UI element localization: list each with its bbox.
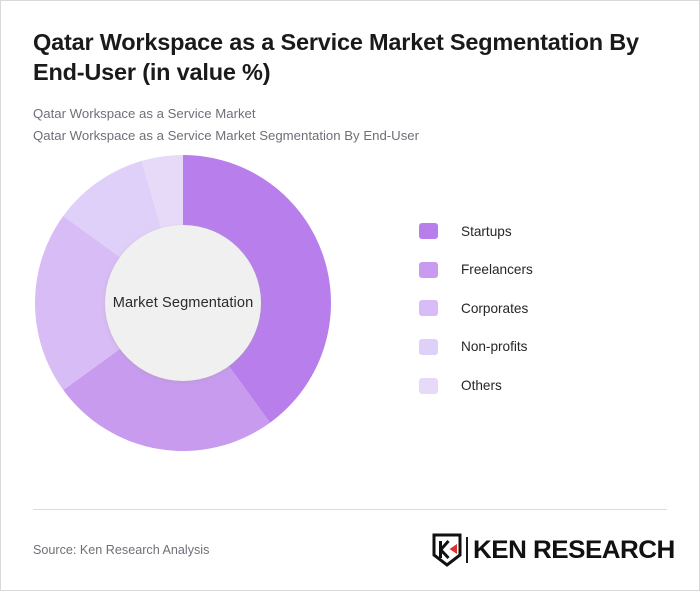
legend-item[interactable]: Freelancers	[419, 251, 533, 290]
legend-item[interactable]: Startups	[419, 212, 533, 251]
donut-inner-circle	[105, 225, 261, 381]
legend-label: Startups	[461, 224, 512, 239]
donut-chart: Market Segmentation	[33, 153, 333, 453]
legend-swatch	[419, 262, 438, 278]
legend-swatch	[419, 223, 438, 239]
subtitle-block: Qatar Workspace as a Service Market Qata…	[33, 103, 667, 146]
legend-item[interactable]: Corporates	[419, 289, 533, 328]
chart-legend: StartupsFreelancersCorporatesNon-profits…	[419, 212, 533, 405]
chart-card: Qatar Workspace as a Service Market Segm…	[0, 0, 700, 591]
legend-swatch	[419, 300, 438, 316]
ken-research-logo-icon	[432, 533, 462, 567]
legend-label: Corporates	[461, 301, 528, 316]
legend-item[interactable]: Others	[419, 366, 533, 405]
legend-swatch	[419, 378, 438, 394]
donut-svg	[33, 153, 333, 453]
legend-label: Non-profits	[461, 339, 527, 354]
chart-header: Qatar Workspace as a Service Market Segm…	[1, 1, 699, 146]
legend-swatch	[419, 339, 438, 355]
subtitle-market: Qatar Workspace as a Service Market	[33, 103, 667, 124]
subtitle-segmentation: Qatar Workspace as a Service Market Segm…	[33, 125, 667, 146]
ken-research-logo: KEN RESEARCH	[432, 533, 667, 567]
source-text: Source: Ken Research Analysis	[33, 543, 209, 557]
legend-label: Freelancers	[461, 262, 533, 277]
chart-area: Market Segmentation StartupsFreelancersC…	[1, 146, 699, 476]
legend-item[interactable]: Non-profits	[419, 328, 533, 367]
chart-footer: Source: Ken Research Analysis KEN RESEAR…	[33, 509, 667, 591]
page-title: Qatar Workspace as a Service Market Segm…	[33, 27, 658, 87]
legend-label: Others	[461, 378, 502, 393]
logo-wordmark: KEN RESEARCH	[473, 538, 675, 563]
logo-separator	[466, 537, 468, 563]
